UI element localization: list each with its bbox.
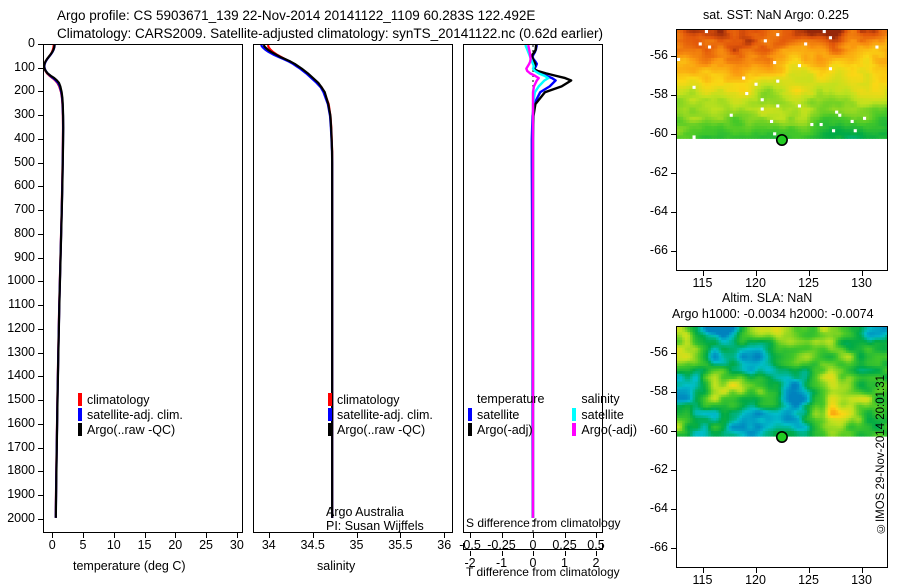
difference-plot-area [464, 45, 602, 532]
depth-tick-label: 300 [14, 107, 35, 121]
latitude-tick [671, 509, 676, 510]
sst-map-xticks: 115120125130 [676, 271, 888, 291]
x-tick-label: 34 [262, 538, 276, 552]
copyright-label: ©IMOS 29-Nov-2014 20:01:31 [875, 375, 887, 534]
depth-tick [38, 163, 43, 164]
longitude-tick-label: 130 [851, 573, 872, 587]
depth-tick-label: 600 [14, 178, 35, 192]
x-tick-label: 30 [230, 538, 244, 552]
raster-cells [677, 30, 887, 139]
latitude-tick [671, 251, 676, 252]
longitude-tick-label: 130 [851, 276, 872, 290]
depth-tick-label: 1300 [7, 345, 35, 359]
difference-legend-temperature: temperature satellite Argo(-adj) [468, 392, 544, 437]
latitude-tick-label: -58 [650, 384, 668, 398]
profile-location-marker [777, 432, 787, 442]
longitude-tick-label: 120 [745, 276, 766, 290]
s-difference-axis-label: S difference from climatology [466, 516, 621, 530]
sst-map [676, 29, 888, 271]
depth-tick-label: 1900 [7, 487, 35, 501]
profile-location-marker [777, 135, 787, 145]
legend-group-title: salinity [572, 392, 637, 407]
depth-tick [38, 471, 43, 472]
longitude-tick-label: 120 [745, 573, 766, 587]
longitude-tick-label: 115 [693, 276, 713, 290]
salinity-legend: climatology satellite-adj. clim. Argo(..… [328, 392, 433, 437]
latitude-tick [671, 470, 676, 471]
latitude-tick-label: -62 [650, 165, 668, 179]
depth-tick [38, 234, 43, 235]
difference-secondary-tick-left [463, 543, 464, 549]
depth-tick-label: 1400 [7, 368, 35, 382]
profile-line [264, 45, 333, 518]
latitude-tick-label: -58 [650, 87, 668, 101]
difference-panel [463, 44, 603, 533]
depth-tick [38, 448, 43, 449]
latitude-tick [671, 56, 676, 57]
depth-tick [38, 68, 43, 69]
depth-tick-label: 1600 [7, 416, 35, 430]
latitude-tick-label: -64 [650, 501, 668, 515]
longitude-tick-label: 125 [798, 276, 819, 290]
depth-tick-label: 900 [14, 250, 35, 264]
temperature-depth-ticks: 0100200300400500600700800900100011001200… [0, 44, 43, 533]
latitude-tick-label: -62 [650, 462, 668, 476]
legend-label: satellite [581, 408, 623, 422]
sst-map-title: sat. SST: NaN Argo: 0.225 [703, 8, 849, 22]
color-swatch-icon [572, 423, 576, 436]
depth-tick-label: 1100 [8, 297, 35, 311]
latitude-tick [671, 548, 676, 549]
depth-tick [38, 495, 43, 496]
temperature-legend: climatology satellite-adj. clim. Argo(..… [78, 392, 183, 437]
profile-line [261, 45, 332, 518]
latitude-tick-label: -60 [650, 423, 668, 437]
legend-item: satellite-adj. clim. [78, 407, 183, 422]
sla-map-title-line1: Altim. SLA: NaN [722, 291, 812, 305]
x-tick-label: 36 [437, 538, 451, 552]
legend-label: climatology [337, 393, 400, 407]
legend-item: Argo(..raw -QC) [328, 422, 433, 437]
legend-item: Argo(-adj) [468, 422, 544, 437]
depth-tick [38, 115, 43, 116]
depth-tick [38, 91, 43, 92]
latitude-tick-label: -66 [650, 540, 668, 554]
latitude-tick-label: -60 [650, 126, 668, 140]
sla-map [676, 326, 888, 568]
color-swatch-icon [328, 423, 332, 436]
salinity-xticks: 3434.53535.536 [253, 533, 453, 555]
legend-group-title: temperature [468, 392, 544, 407]
latitude-tick-label: -56 [650, 48, 668, 62]
depth-tick [38, 519, 43, 520]
difference-line [526, 45, 538, 518]
longitude-tick-label: 115 [693, 573, 713, 587]
difference-legend-salinity: salinity satellite Argo(-adj) [572, 392, 637, 437]
depth-tick [38, 305, 43, 306]
sla-map-image [677, 327, 887, 567]
difference-line [532, 45, 556, 518]
legend-item: climatology [328, 392, 433, 407]
sla-map-title-line2: Argo h1000: -0.0034 h2000: -0.0074 [672, 307, 874, 321]
difference-line [525, 45, 548, 518]
legend-item: Argo(-adj) [572, 422, 637, 437]
page-title-line1: Argo profile: CS 5903671_139 22-Nov-2014… [57, 8, 535, 23]
difference-line [532, 45, 571, 518]
depth-tick [38, 329, 43, 330]
latitude-tick-label: -64 [650, 204, 668, 218]
difference-secondary-tick-right [602, 543, 603, 549]
temperature-axis-label: temperature (deg C) [73, 559, 186, 573]
depth-tick-label: 800 [14, 226, 35, 240]
legend-item: satellite [572, 407, 637, 422]
salinity-panel [253, 44, 453, 533]
temperature-panel [43, 44, 243, 533]
t-difference-axis-label: T difference from climatology [466, 565, 620, 579]
depth-tick-label: 2000 [7, 511, 35, 525]
color-swatch-icon [328, 393, 332, 406]
depth-tick [38, 376, 43, 377]
legend-label: Argo(-adj) [581, 423, 637, 437]
depth-tick [38, 281, 43, 282]
legend-label: satellite-adj. clim. [337, 408, 433, 422]
legend-item: Argo(..raw -QC) [78, 422, 183, 437]
sst-map-image [677, 30, 887, 270]
depth-tick [38, 424, 43, 425]
color-swatch-icon [328, 408, 332, 421]
depth-tick-label: 1800 [7, 463, 35, 477]
x-tick-label: 25 [199, 538, 213, 552]
depth-tick-label: 100 [14, 60, 35, 74]
difference-secondary-axis-line [463, 549, 603, 550]
color-swatch-icon [572, 408, 576, 421]
depth-tick [38, 186, 43, 187]
depth-tick-label: 1200 [7, 321, 35, 335]
raster-cells [677, 327, 887, 437]
legend-label: Argo(-adj) [477, 423, 533, 437]
salinity-axis-label: salinity [317, 559, 355, 573]
depth-tick [38, 400, 43, 401]
depth-tick-label: 700 [14, 202, 35, 216]
x-tick-label: 34.5 [300, 538, 324, 552]
depth-tick-label: 400 [14, 131, 35, 145]
latitude-tick-label: -56 [650, 345, 668, 359]
difference-legend: temperature satellite Argo(-adj) salinit… [468, 392, 637, 437]
temperature-xticks: 051015202530 [43, 533, 243, 555]
depth-tick-label: 1000 [7, 273, 35, 287]
color-swatch-icon [468, 423, 472, 436]
depth-tick [38, 353, 43, 354]
sst-map-yticks: -56-58-60-62-64-66 [630, 29, 676, 271]
depth-tick-label: 1700 [7, 440, 35, 454]
latitude-tick [671, 392, 676, 393]
legend-item: satellite-adj. clim. [328, 407, 433, 422]
legend-item: satellite [468, 407, 544, 422]
legend-label: Argo(..raw -QC) [87, 423, 175, 437]
argo-credit: Argo Australia PI: Susan Wijffels [326, 505, 424, 533]
depth-tick-label: 0 [28, 36, 35, 50]
depth-tick-label: 200 [14, 83, 35, 97]
legend-label: satellite [477, 408, 519, 422]
latitude-tick [671, 212, 676, 213]
depth-tick-label: 500 [14, 155, 35, 169]
profile-line [268, 45, 332, 518]
latitude-tick-label: -66 [650, 243, 668, 257]
x-tick-label: 35.5 [388, 538, 412, 552]
legend-item: climatology [78, 392, 183, 407]
longitude-tick-label: 125 [798, 573, 819, 587]
legend-label: climatology [87, 393, 150, 407]
latitude-tick [671, 134, 676, 135]
x-tick-label: 5 [80, 538, 87, 552]
depth-tick [38, 210, 43, 211]
latitude-tick [671, 173, 676, 174]
profile-line [44, 45, 63, 518]
x-tick-label: 10 [107, 538, 121, 552]
depth-tick-label: 1500 [7, 392, 35, 406]
x-tick-label: 15 [138, 538, 152, 552]
depth-tick [38, 258, 43, 259]
depth-tick [38, 139, 43, 140]
color-swatch-icon [468, 408, 472, 421]
latitude-tick [671, 95, 676, 96]
legend-label: satellite-adj. clim. [87, 408, 183, 422]
x-tick-label: 0 [49, 538, 56, 552]
color-swatch-icon [78, 408, 82, 421]
page-title-line2: Climatology: CARS2009. Satellite-adjuste… [57, 26, 603, 41]
salinity-plot-area [254, 45, 452, 532]
legend-label: Argo(..raw -QC) [337, 423, 425, 437]
latitude-tick [671, 353, 676, 354]
depth-tick [38, 44, 43, 45]
argo-credit-line2: PI: Susan Wijffels [326, 519, 424, 533]
sla-map-yticks: -56-58-60-62-64-66 [630, 326, 676, 568]
sla-map-xticks: 115120125130 [676, 568, 888, 588]
color-swatch-icon [78, 423, 82, 436]
x-tick-label: 35 [350, 538, 364, 552]
color-swatch-icon [78, 393, 82, 406]
x-tick-label: 20 [168, 538, 182, 552]
latitude-tick [671, 431, 676, 432]
argo-credit-line1: Argo Australia [326, 505, 424, 519]
temperature-plot-area [44, 45, 242, 532]
